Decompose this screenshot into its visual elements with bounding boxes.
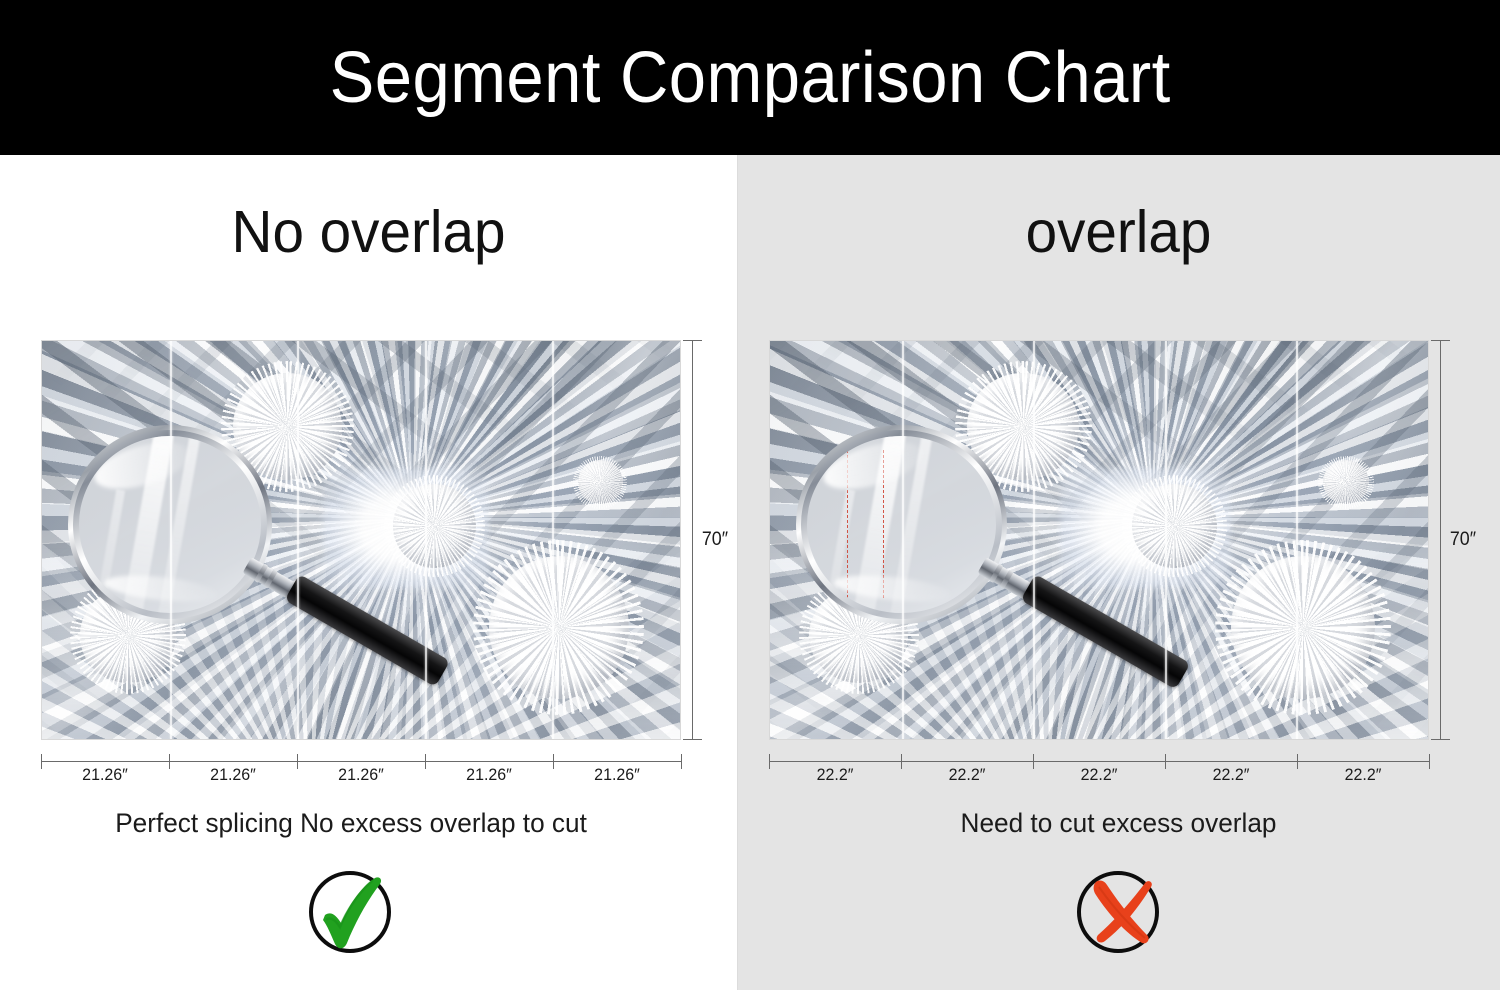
height-label: 70″ — [702, 529, 728, 551]
panel-seam-line — [425, 341, 427, 739]
panel-heading-left: No overlap — [15, 203, 723, 262]
ornament-ball-icon — [1231, 556, 1376, 699]
mural-right — [769, 340, 1429, 740]
segment-width-label: 21.26″ — [557, 765, 677, 785]
panel-no-overlap: No overlap — [0, 155, 737, 990]
check-circle-icon — [303, 865, 399, 961]
cross-circle-icon — [1071, 865, 1167, 961]
segment-width-labels: 22.2″ 22.2″ 22.2″ 22.2″ 22.2″ — [769, 765, 1429, 785]
segment-width-label: 22.2″ — [905, 765, 1029, 785]
page-title: Segment Comparison Chart — [329, 42, 1170, 114]
segment-width-label: 22.2″ — [1301, 765, 1425, 785]
segment-width-label: 22.2″ — [773, 765, 897, 785]
verdict-right — [737, 865, 1500, 961]
dimension-tick — [1431, 739, 1450, 740]
dimension-rule — [1440, 340, 1441, 740]
segment-width-labels: 21.26″ 21.26″ 21.26″ 21.26″ 21.26″ — [41, 765, 681, 785]
dimension-tick — [683, 739, 702, 740]
panel-seam-line — [1033, 341, 1035, 739]
dimension-tick — [681, 754, 682, 769]
height-dimension-left: 70″ — [687, 340, 731, 740]
dimension-rule — [692, 340, 693, 740]
dimension-tick — [1431, 340, 1450, 341]
panel-seam-line — [1165, 341, 1167, 739]
height-label: 70″ — [1450, 529, 1476, 551]
dimension-rule — [41, 761, 681, 762]
dimension-tick — [683, 340, 702, 341]
height-dimension-right: 70″ — [1435, 340, 1479, 740]
comparison-panels: No overlap — [0, 155, 1500, 990]
ornament-ball-icon — [489, 556, 629, 699]
width-dimension-right: 22.2″ 22.2″ 22.2″ 22.2″ 22.2″ — [769, 750, 1429, 796]
panel-heading-right: overlap — [752, 203, 1484, 262]
mural-artwork — [769, 340, 1429, 740]
segment-width-label: 21.26″ — [429, 765, 549, 785]
panel-seam-line — [902, 341, 904, 739]
dimension-rule — [769, 761, 1429, 762]
segment-width-label: 22.2″ — [1169, 765, 1293, 785]
dimension-tick — [1429, 754, 1430, 769]
mural-artwork — [41, 340, 681, 740]
ornament-ball-icon — [1323, 460, 1369, 504]
caption-right: Need to cut excess overlap — [748, 810, 1488, 837]
panel-seam-line — [297, 341, 299, 739]
mural-left — [41, 340, 681, 740]
caption-left: Perfect splicing No excess overlap to cu… — [11, 810, 726, 837]
ornament-ball-icon — [578, 460, 623, 504]
segment-comparison-chart-page: Segment Comparison Chart No overlap — [0, 0, 1500, 990]
verdict-left — [0, 865, 737, 961]
panel-seam-line — [170, 341, 172, 739]
panel-overlap: overlap — [737, 155, 1500, 990]
segment-width-label: 22.2″ — [1037, 765, 1161, 785]
segment-width-label: 21.26″ — [301, 765, 421, 785]
panel-seam-line — [1296, 341, 1298, 739]
segment-width-label: 21.26″ — [173, 765, 293, 785]
segment-width-label: 21.26″ — [45, 765, 165, 785]
panel-seam-line — [552, 341, 554, 739]
ornament-ball-icon — [1132, 484, 1218, 568]
title-banner: Segment Comparison Chart — [0, 0, 1500, 155]
ornament-ball-icon — [393, 484, 476, 568]
width-dimension-left: 21.26″ 21.26″ 21.26″ 21.26″ 21.26″ — [41, 750, 681, 796]
